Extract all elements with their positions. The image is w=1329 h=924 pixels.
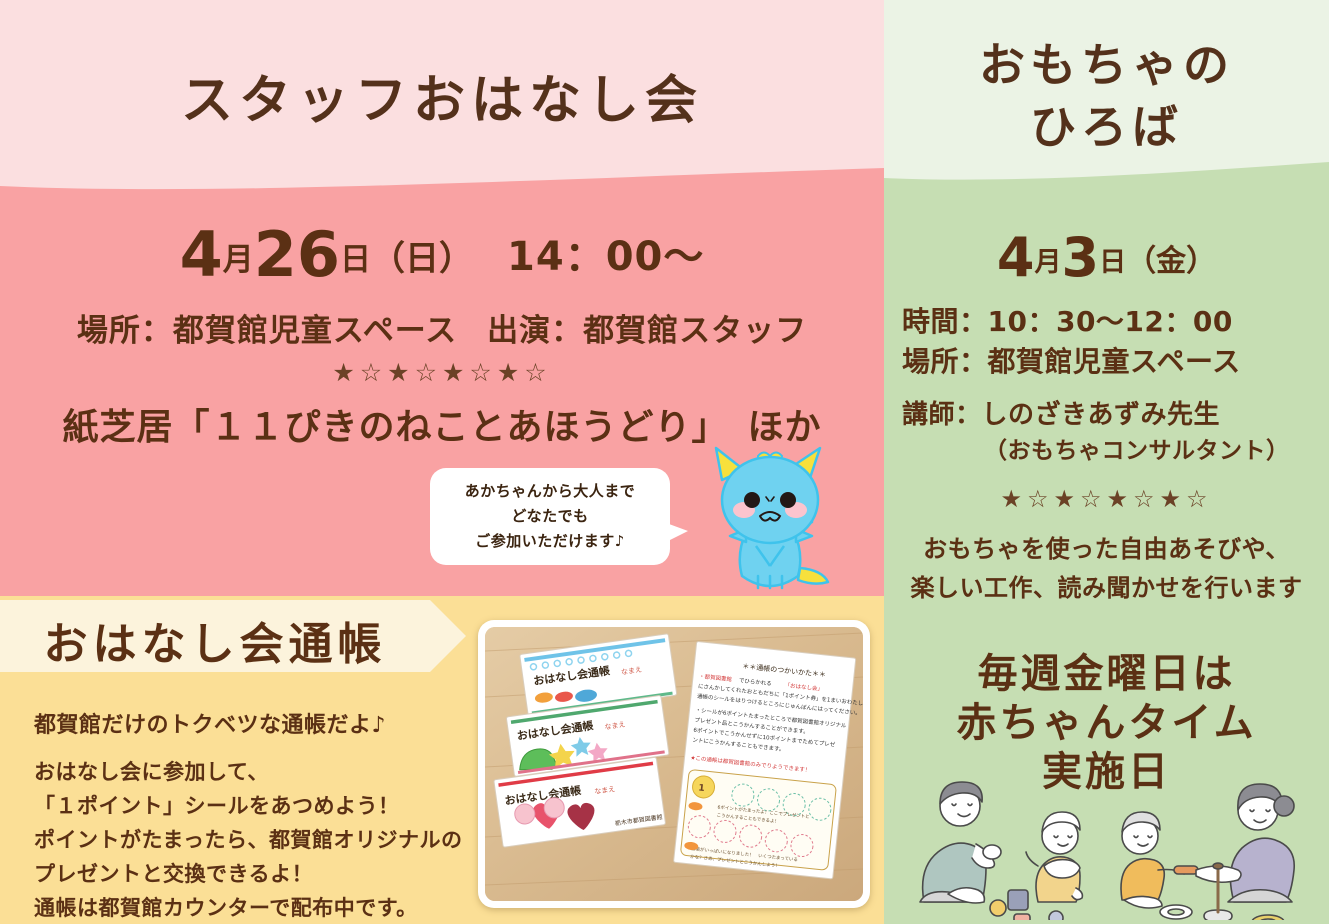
bubble-line-1: あかちゃんから大人まで bbox=[465, 479, 636, 504]
right-venue-line: 場所：都賀館児童スペース bbox=[902, 342, 1329, 382]
left-venue-label: 場所： bbox=[77, 313, 173, 349]
star-divider-right: ★☆★☆★☆★☆ bbox=[884, 485, 1329, 513]
passbook-body-line-5: 通帳は都賀館カウンターで配布中です。 bbox=[34, 891, 484, 924]
left-performer-label: 出演： bbox=[487, 313, 583, 349]
right-desc-line-2: 楽しい工作、読み聞かせを行います bbox=[884, 569, 1329, 608]
passbook-body-line-2: 「１ポイント」シールをあつめよう！ bbox=[34, 789, 484, 823]
right-date-day-unit: 日 bbox=[1099, 247, 1126, 278]
right-desc-line-1: おもちゃを使った自由あそびや、 bbox=[884, 530, 1329, 569]
left-date-month: 4 bbox=[180, 218, 223, 291]
left-panel: スタッフおはなし会 4月26日（日）14：00〜 場所：都賀館児童スペース出演：… bbox=[0, 0, 884, 924]
passbook-photo-frame: おはなし会通帳 なまえ おはなし会通帳 なまえ bbox=[478, 620, 870, 908]
left-venue-line: 場所：都賀館児童スペース出演：都賀館スタッフ bbox=[0, 305, 884, 350]
passbook-body-line-4: プレゼントと交換できるよ！ bbox=[34, 857, 484, 891]
left-venue-value: 都賀館児童スペース bbox=[173, 313, 457, 349]
right-event-title: おもちゃの ひろば bbox=[884, 34, 1329, 158]
right-time-line: 時間：10：30〜12：00 bbox=[902, 302, 1329, 342]
right-date-month: 4 bbox=[997, 226, 1035, 289]
passbook-body-line-3: ポイントがたまったら、都賀館オリジナルの bbox=[34, 823, 484, 857]
family-playing-illustration bbox=[888, 770, 1328, 924]
right-panel: おもちゃの ひろば 4月3日（金） 時間：10：30〜12：00 場所：都賀館児… bbox=[884, 0, 1329, 924]
left-date-weekday: （日） bbox=[371, 239, 473, 279]
passbook-body-text: おはなし会に参加して、 「１ポイント」シールをあつめよう！ ポイントがたまったら… bbox=[34, 755, 484, 924]
left-date-day: 26 bbox=[254, 218, 340, 291]
left-date-time: 14：00〜 bbox=[507, 234, 704, 280]
left-date-month-unit: 月 bbox=[223, 242, 254, 278]
passbook-lead-text: 都賀館だけのトクベツな通帳だよ♪ bbox=[34, 707, 464, 739]
bubble-line-3: ご参加いただけます♪ bbox=[475, 529, 625, 554]
passbook-body-line-1: おはなし会に参加して、 bbox=[34, 755, 484, 789]
left-event-title: スタッフおはなし会 bbox=[0, 58, 884, 133]
passbook-photo: おはなし会通帳 なまえ おはなし会通帳 なまえ bbox=[485, 627, 863, 901]
right-teacher-line: 講師：しのざきあずみ先生 bbox=[902, 396, 1329, 434]
right-teacher-sub: （おもちゃコンサルタント） bbox=[902, 434, 1329, 468]
left-performer-value: 都賀館スタッフ bbox=[583, 313, 807, 349]
right-title-line-1: おもちゃの bbox=[884, 34, 1329, 96]
right-description: おもちゃを使った自由あそびや、 楽しい工作、読み聞かせを行います bbox=[884, 530, 1329, 608]
star-divider-left: ★☆★☆★☆★☆ bbox=[0, 358, 884, 387]
right-date-line: 4月3日（金） bbox=[884, 226, 1329, 289]
baby-time-line-2: 赤ちゃんタイム bbox=[884, 699, 1329, 748]
right-teacher-block: 講師：しのざきあずみ先生 （おもちゃコンサルタント） bbox=[902, 396, 1329, 469]
svg-text:1: 1 bbox=[698, 783, 705, 794]
right-info-block: 時間：10：30〜12：00 場所：都賀館児童スペース bbox=[902, 302, 1329, 382]
speech-bubble-tail-icon bbox=[650, 515, 690, 555]
right-date-month-unit: 月 bbox=[1035, 247, 1062, 278]
flyer-root: スタッフおはなし会 4月26日（日）14：00〜 場所：都賀館児童スペース出演：… bbox=[0, 0, 1329, 924]
speech-bubble: あかちゃんから大人まで どなたでも ご参加いただけます♪ bbox=[430, 468, 670, 565]
passbook-heading: おはなし会通帳 bbox=[0, 608, 430, 672]
left-date-line: 4月26日（日）14：00〜 bbox=[0, 218, 884, 291]
right-title-line-2: ひろば bbox=[884, 96, 1329, 158]
bubble-line-2: どなたでも bbox=[511, 504, 588, 529]
right-date-day: 3 bbox=[1062, 226, 1100, 289]
baby-time-line-1: 毎週金曜日は bbox=[884, 650, 1329, 699]
right-date-weekday: （金） bbox=[1126, 244, 1216, 279]
left-date-day-unit: 日 bbox=[340, 242, 371, 278]
dragon-mascot-icon bbox=[700, 440, 840, 599]
